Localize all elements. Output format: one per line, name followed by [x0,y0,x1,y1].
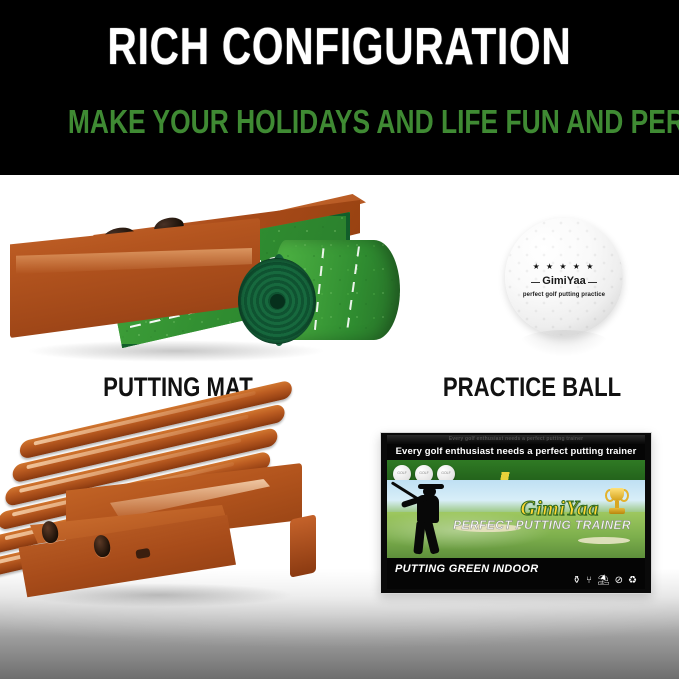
rolled-mat-line [314,248,325,334]
golf-ball-reflection [519,330,609,356]
practice-ball-product-image: ★ ★ ★ ★ ★ GimiYaa perfect golf putting p… [505,218,645,358]
golfer-silhouette-icon [397,482,461,556]
rolled-mat [238,238,398,346]
box-brand-subtitle: PERFECT PUTTING TRAINER [453,518,631,532]
product-infographic: RICH CONFIGURATION MAKE YOUR HOLIDAYS AN… [0,0,679,679]
recycle-icon: ♻ [628,575,637,586]
golf-ball: ★ ★ ★ ★ ★ GimiYaa perfect golf putting p… [505,218,623,336]
box-tagline: Every golf enthusiast needs a perfect pu… [387,444,645,460]
headline-title: RICH CONFIGURATION [75,21,605,73]
ball-return-board-image [14,405,354,620]
box-care-icons: ⚱ ⑂ ⛱ ⊘ ♻ [573,575,637,586]
sand-bunker [578,537,630,544]
box-bottom-text: PUTTING GREEN INDOOR [395,563,539,575]
box-artwork: GimiYaa PERFECT PUTTING TRAINER [387,480,645,558]
product-package-box: Every golf enthusiast needs a perfect pu… [380,432,652,594]
golf-ball-tagline: perfect golf putting practice [519,291,609,299]
box-lip-text: Every golf enthusiast needs a perfect pu… [387,435,645,443]
headline-subtitle: MAKE YOUR HOLIDAYS AND LIFE FUN AND PERF… [68,105,611,138]
umbrella-icon: ⛱ [597,575,610,586]
header-banner: RICH CONFIGURATION MAKE YOUR HOLIDAYS AN… [0,0,679,175]
rolled-mat-core [270,294,285,309]
caption-practice-ball: PRACTICE BALL [434,374,631,401]
golf-ball-print: ★ ★ ★ ★ ★ GimiYaa perfect golf putting p… [519,262,609,299]
board-end-cap [290,514,316,578]
no-hook-icon: ⊘ [615,575,623,586]
golf-ball-brand: GimiYaa [532,275,595,288]
box-top-lip: Every golf enthusiast needs a perfect pu… [387,435,645,443]
fragile-icon: ⚱ [573,575,581,586]
box-bottom-bar: PUTTING GREEN INDOOR ⚱ ⑂ ⛱ ⊘ ♻ [387,558,645,589]
trophy-icon [607,488,627,518]
rolled-mat-line [346,246,360,331]
putting-mat-product-image [6,190,406,365]
five-star-rating: ★ ★ ★ ★ ★ [519,262,609,271]
glass-icon: ⑂ [586,575,592,586]
